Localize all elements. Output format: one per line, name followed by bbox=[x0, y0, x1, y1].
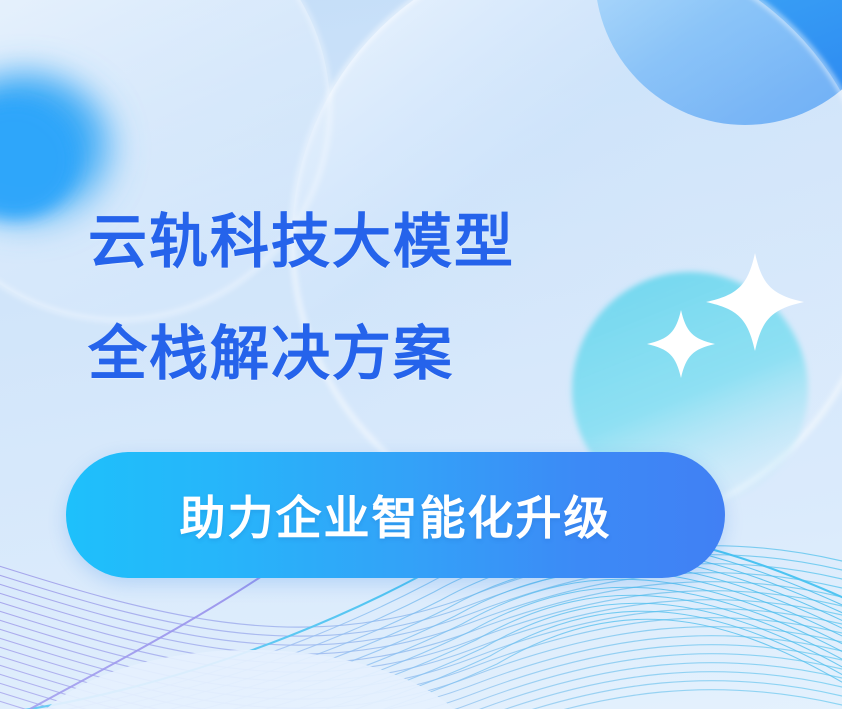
headline-line-1: 云轨科技大模型 bbox=[88, 186, 515, 298]
circle-top-right-blue bbox=[595, 0, 842, 125]
poster-canvas: 云轨科技大模型 全栈解决方案 助力企业智能化升级 bbox=[0, 0, 842, 709]
headline-block: 云轨科技大模型 全栈解决方案 bbox=[88, 186, 515, 410]
cta-button-label: 助力企业智能化升级 bbox=[180, 482, 612, 548]
wave-underlay-blob bbox=[20, 650, 480, 709]
cta-button[interactable]: 助力企业智能化升级 bbox=[66, 452, 725, 578]
sparkle-small-icon bbox=[647, 310, 715, 378]
sparkle-large-icon bbox=[706, 253, 804, 351]
headline-line-2: 全栈解决方案 bbox=[88, 298, 515, 410]
orb-left-blue-core bbox=[0, 102, 76, 218]
